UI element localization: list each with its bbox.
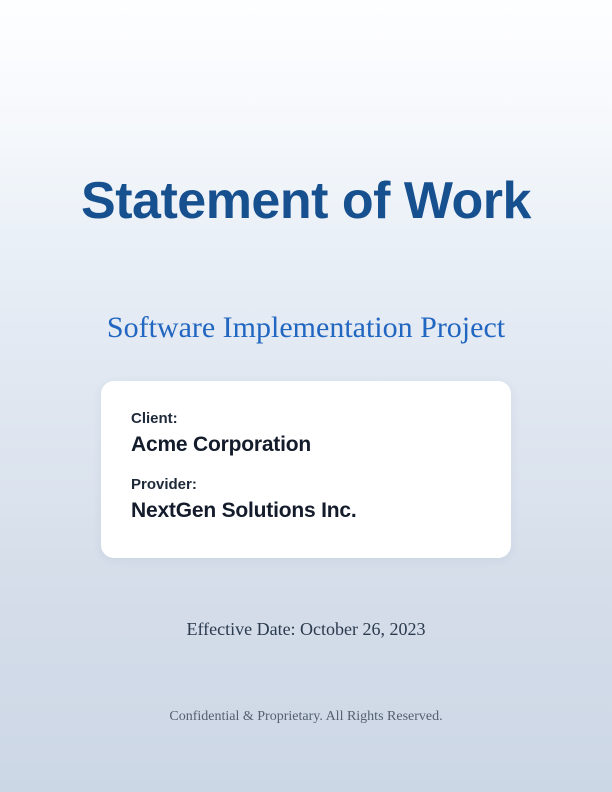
page-title: Statement of Work bbox=[0, 172, 612, 230]
provider-label: Provider: bbox=[131, 474, 481, 496]
parties-card: Client: Acme Corporation Provider: NextG… bbox=[101, 381, 511, 558]
client-label: Client: bbox=[131, 408, 481, 430]
title-block: Statement of Work bbox=[0, 172, 612, 230]
effective-date: Effective Date: October 26, 2023 bbox=[0, 617, 612, 641]
client-name: Acme Corporation bbox=[131, 430, 481, 460]
confidentiality-notice: Confidential & Proprietary. All Rights R… bbox=[0, 707, 612, 727]
page-subtitle: Software Implementation Project bbox=[0, 309, 612, 347]
provider-name: NextGen Solutions Inc. bbox=[131, 496, 481, 526]
cover-page: Statement of Work Software Implementatio… bbox=[0, 0, 612, 792]
